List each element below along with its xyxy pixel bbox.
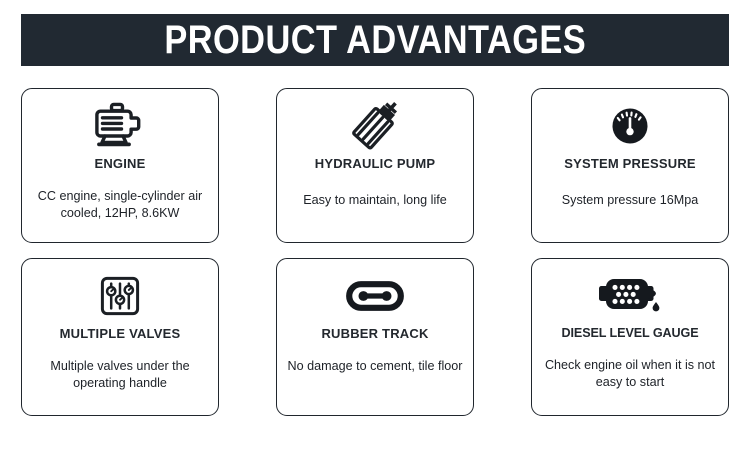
card-title: SYSTEM PRESSURE [564,156,696,171]
diesel-level-gauge-icon [596,267,664,325]
rubber-track-icon [346,267,404,325]
card-description: Easy to maintain, long life [299,192,451,209]
product-advantages-page: PRODUCT ADVANTAGES ENGINE [0,0,750,449]
hydraulic-pump-icon [348,97,402,155]
card-description: System pressure 16Mpa [558,192,703,209]
engine-motor-icon [92,97,148,155]
advantage-card-multiple-valves: MULTIPLE VALVES Multiple valves under th… [21,258,219,416]
card-description: Multiple valves under the operating hand… [28,358,212,392]
advantage-card-rubber-track: RUBBER TRACK No damage to cement, tile f… [276,258,474,416]
advantage-card-engine: ENGINE CC engine, single-cylinder air co… [21,88,219,243]
advantage-card-system-pressure: SYSTEM PRESSURE System pressure 16Mpa [531,88,729,243]
card-description: CC engine, single-cylinder air cooled, 1… [28,188,212,222]
multiple-valves-sliders-icon [98,267,142,325]
pressure-gauge-icon [606,97,654,155]
page-title: PRODUCT ADVANTAGES [164,20,586,60]
card-description: Check engine oil when it is not easy to … [538,357,722,391]
card-title: ENGINE [94,156,145,171]
advantage-card-diesel-level-gauge: DIESEL LEVEL GAUGE Check engine oil when… [531,258,729,416]
card-title: RUBBER TRACK [321,326,428,341]
card-title: HYDRAULIC PUMP [315,156,436,171]
card-title: DIESEL LEVEL GAUGE [562,326,699,340]
header-banner: PRODUCT ADVANTAGES [21,14,729,66]
card-description: No damage to cement, tile floor [283,358,466,375]
advantages-grid: ENGINE CC engine, single-cylinder air co… [21,88,729,418]
advantage-card-hydraulic-pump: HYDRAULIC PUMP Easy to maintain, long li… [276,88,474,243]
card-title: MULTIPLE VALVES [60,326,181,341]
